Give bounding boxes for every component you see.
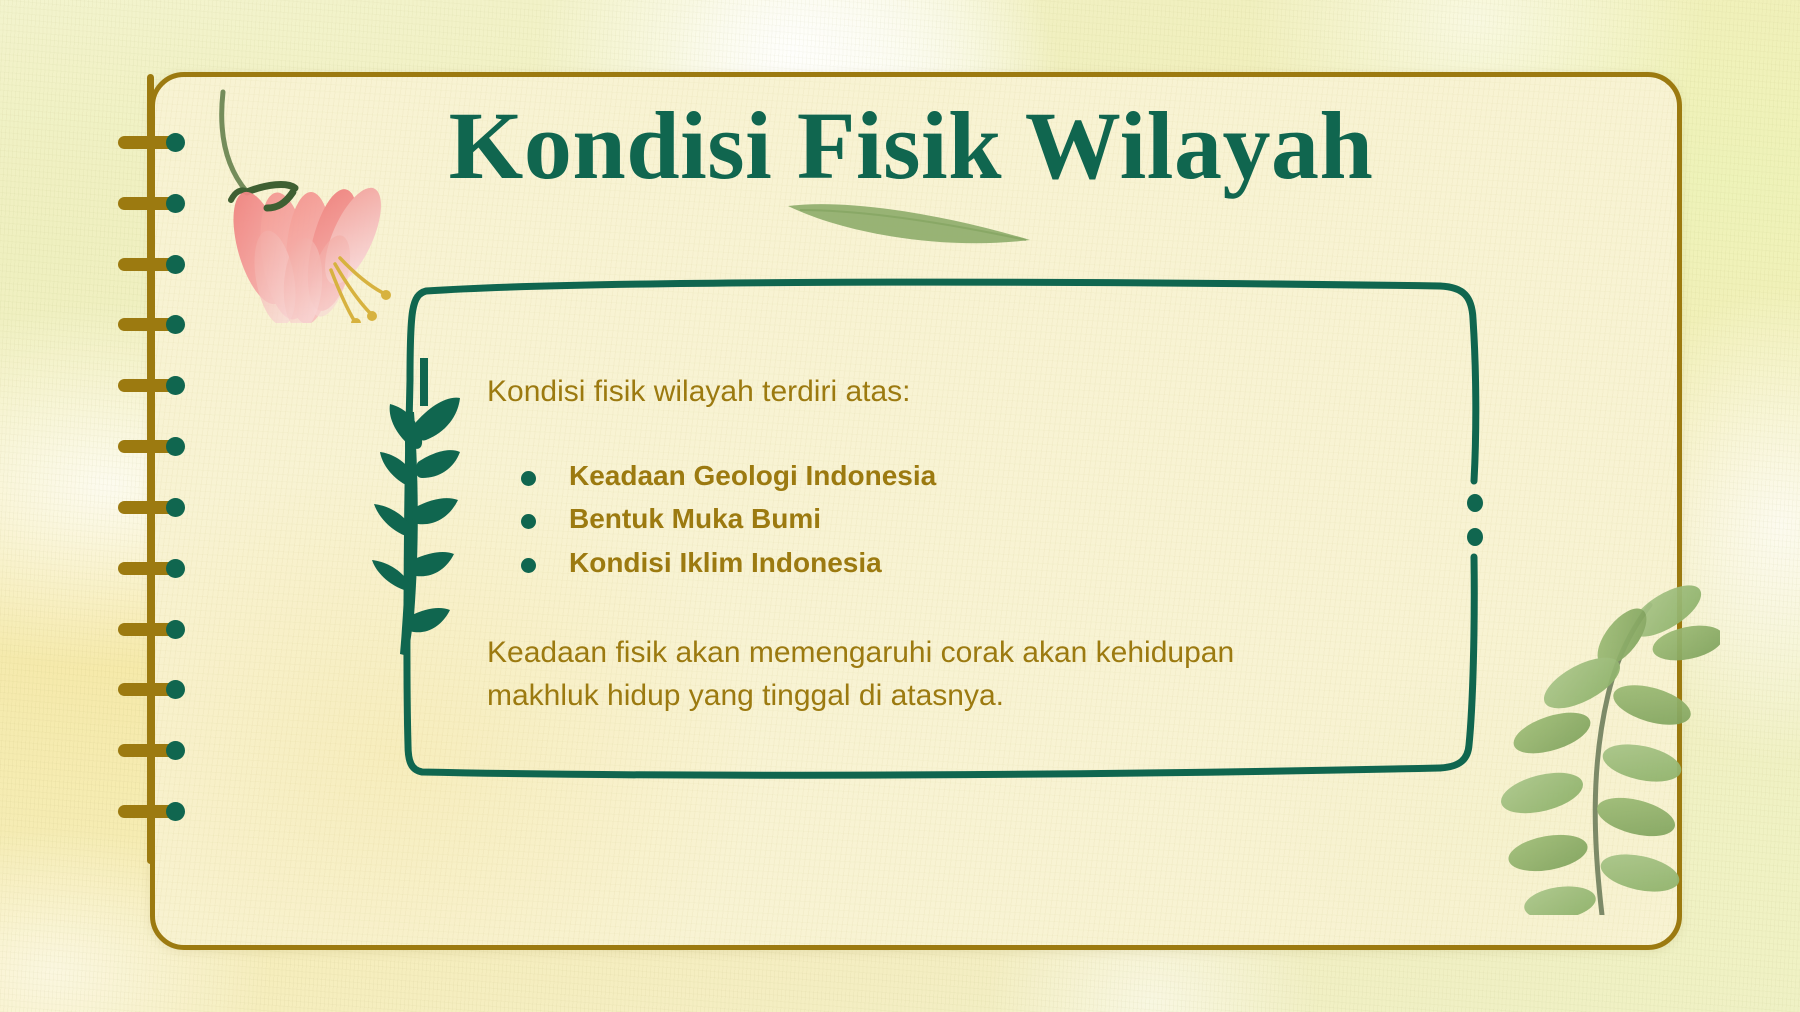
content-body: Kondisi fisik wilayah terdiri atas: Kead… — [487, 372, 1367, 718]
bullet-item: Keadaan Geologi Indonesia — [521, 457, 1367, 496]
binding-ring — [118, 318, 180, 331]
binding-ring — [118, 805, 180, 818]
binding-ring — [118, 683, 180, 696]
closing-paragraph: Keadaan fisik akan memengaruhi corak aka… — [487, 632, 1367, 717]
binding-ring — [118, 197, 180, 210]
binding-ring — [118, 501, 180, 514]
lead-paragraph: Kondisi fisik wilayah terdiri atas: — [487, 372, 1367, 413]
binding-ring — [118, 379, 180, 392]
bullet-item: Bentuk Muka Bumi — [521, 500, 1367, 539]
binding-ring — [118, 440, 180, 453]
closing-line-2: makhluk hidup yang tinggal di atasnya. — [487, 679, 1004, 712]
binding-ring — [118, 623, 180, 636]
closing-line-1: Keadaan fisik akan memengaruhi corak aka… — [487, 636, 1234, 669]
bullet-list: Keadaan Geologi IndonesiaBentuk Muka Bum… — [487, 457, 1367, 583]
page-title: Kondisi Fisik Wilayah — [150, 96, 1672, 197]
slide-canvas: Kondisi Fisik Wilayah — [0, 0, 1800, 1012]
bullet-item: Kondisi Iklim Indonesia — [521, 544, 1367, 583]
binding-ring — [118, 258, 180, 271]
binding-ring — [118, 744, 180, 757]
binding-ring — [118, 562, 180, 575]
